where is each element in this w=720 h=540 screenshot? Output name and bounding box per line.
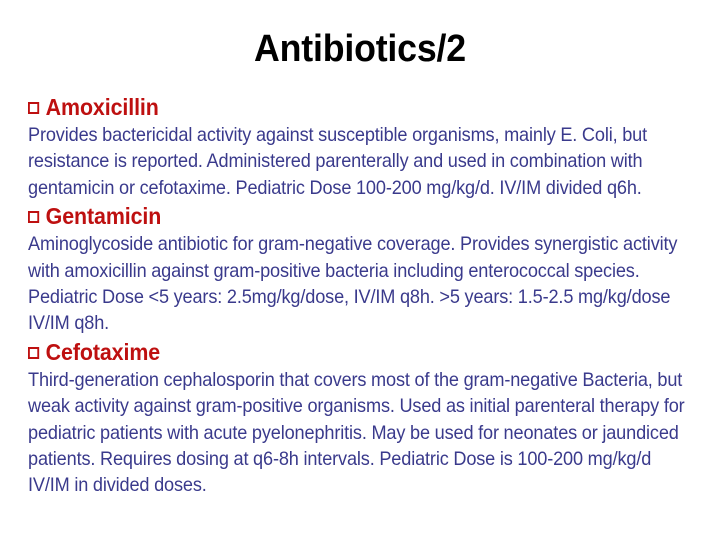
slide-canvas: Antibiotics/2 Amoxicillin Provides bacte… — [0, 0, 720, 540]
section-cefotaxime: Cefotaxime Third-generation cephalospori… — [28, 337, 694, 499]
section-gentamicin: Gentamicin Aminoglycoside antibiotic for… — [28, 201, 694, 337]
square-bullet-icon — [28, 211, 39, 223]
square-bullet-icon — [28, 102, 39, 114]
section-heading-label: Cefotaxime — [46, 339, 160, 365]
section-body-cefotaxime: Third-generation cephalosporin that cove… — [28, 367, 694, 499]
section-heading-label: Amoxicillin — [46, 94, 159, 120]
square-bullet-icon — [28, 347, 39, 359]
page-title: Antibiotics/2 — [22, 27, 699, 71]
section-heading-label: Gentamicin — [46, 203, 162, 229]
section-amoxicillin: Amoxicillin Provides bactericidal activi… — [28, 92, 694, 201]
section-body-gentamicin: Aminoglycoside antibiotic for gram-negat… — [28, 231, 694, 337]
content-body: Amoxicillin Provides bactericidal activi… — [28, 92, 694, 499]
section-heading-gentamicin: Gentamicin — [28, 201, 647, 231]
section-body-amoxicillin: Provides bactericidal activity against s… — [28, 122, 694, 201]
section-heading-cefotaxime: Cefotaxime — [28, 337, 647, 367]
section-heading-amoxicillin: Amoxicillin — [28, 92, 647, 122]
